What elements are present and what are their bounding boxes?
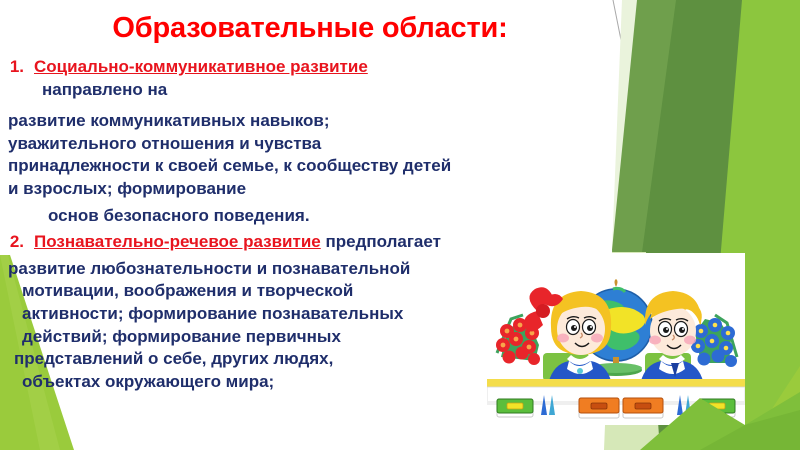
illustration-artwork — [487, 253, 745, 425]
list-item-paragraph: развитие коммуникативных навыков; уважит… — [0, 110, 600, 200]
orange-book-2-icon — [623, 398, 663, 418]
list-item-lead: направлено на — [34, 79, 600, 102]
slide-canvas: Образовательные области: 1. Социально-ко… — [0, 0, 800, 450]
green-book-right-icon — [699, 399, 735, 417]
green-book-left-icon — [497, 399, 533, 417]
body-line: основ безопасного поведения. — [0, 205, 600, 228]
list-item-number: 2. — [0, 231, 34, 254]
list-item-body: Социально-коммуникативное развитие напра… — [34, 56, 600, 101]
page-title: Образовательные области: — [0, 12, 620, 45]
body-line: уважительного отношения и чувства — [0, 133, 600, 156]
spacer — [0, 101, 600, 110]
list-item-heading-row: Познавательно-речевое развитие предполаг… — [34, 231, 600, 254]
illustration-children-at-desk — [487, 253, 745, 425]
body-line: развитие коммуникативных навыков; — [0, 110, 600, 133]
list-item: 1. Социально-коммуникативное развитие на… — [0, 56, 600, 101]
list-item-heading: Социально-коммуникативное развитие — [34, 56, 600, 79]
body-line: принадлежности к своей семье, к сообщест… — [0, 155, 600, 178]
list-item: 2. Познавательно-речевое развитие предпо… — [0, 231, 600, 254]
orange-book-1-icon — [579, 398, 619, 418]
list-item-body: Познавательно-речевое развитие предполаг… — [34, 231, 600, 254]
list-item-number: 1. — [0, 56, 34, 79]
list-item-lead: предполагает — [321, 232, 441, 251]
list-item-heading: Познавательно-речевое развитие — [34, 232, 321, 251]
body-line: и взрослых; формирование — [0, 178, 600, 201]
